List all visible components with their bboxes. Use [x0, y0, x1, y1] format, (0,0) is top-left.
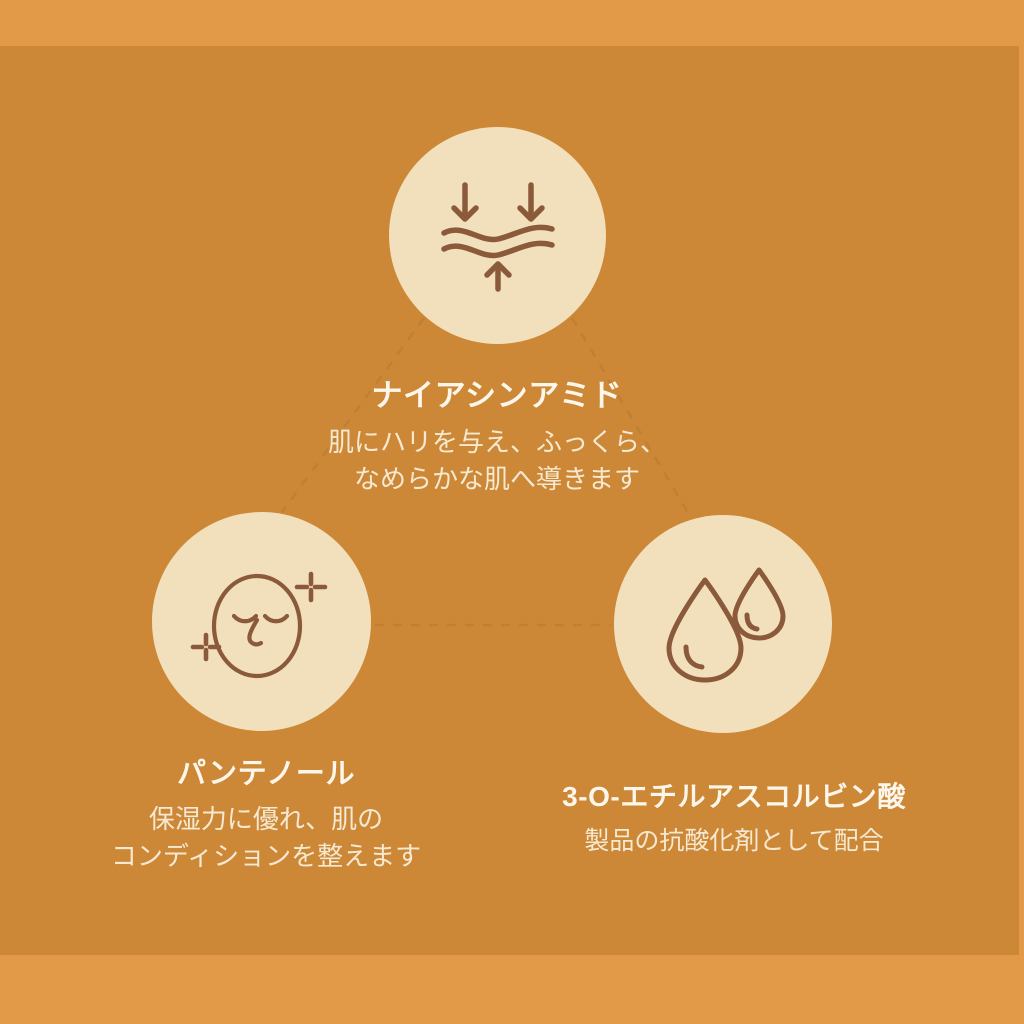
calm-face-icon — [187, 552, 337, 692]
node-description: 肌にハリを与え、ふっくら、 なめらかな肌へ導きます — [212, 424, 782, 498]
skin-firmness-icon — [428, 171, 568, 301]
water-droplets-icon — [653, 554, 793, 694]
desc-line: コンディションを整えます — [10, 838, 522, 875]
node-description: 製品の抗酸化剤として配合 — [484, 824, 984, 860]
node-title: パンテノール — [10, 750, 522, 792]
node-description: 保湿力に優れ、肌の コンディションを整えます — [10, 801, 522, 875]
desc-line: 保湿力に優れ、肌の — [10, 801, 522, 838]
icon-circle-panthenol[interactable] — [152, 512, 371, 731]
icon-circle-niacinamide[interactable] — [389, 127, 606, 344]
icon-circle-ethyl-ascorbic-acid[interactable] — [614, 515, 832, 733]
label-block-ethyl-ascorbic-acid: 3-O-エチルアスコルビン酸 製品の抗酸化剤として配合 — [484, 775, 984, 860]
node-title: ナイアシンアミド — [212, 370, 782, 415]
desc-line: 製品の抗酸化剤として配合 — [484, 824, 984, 860]
label-block-panthenol: パンテノール 保湿力に優れ、肌の コンディションを整えます — [10, 750, 522, 875]
ingredient-diagram-canvas: ナイアシンアミド 肌にハリを与え、ふっくら、 なめらかな肌へ導きます — [0, 0, 1024, 1024]
node-title: 3-O-エチルアスコルビン酸 — [484, 775, 984, 815]
label-block-niacinamide: ナイアシンアミド 肌にハリを与え、ふっくら、 なめらかな肌へ導きます — [212, 370, 782, 498]
desc-line: なめらかな肌へ導きます — [212, 461, 782, 498]
desc-line: 肌にハリを与え、ふっくら、 — [212, 424, 782, 461]
